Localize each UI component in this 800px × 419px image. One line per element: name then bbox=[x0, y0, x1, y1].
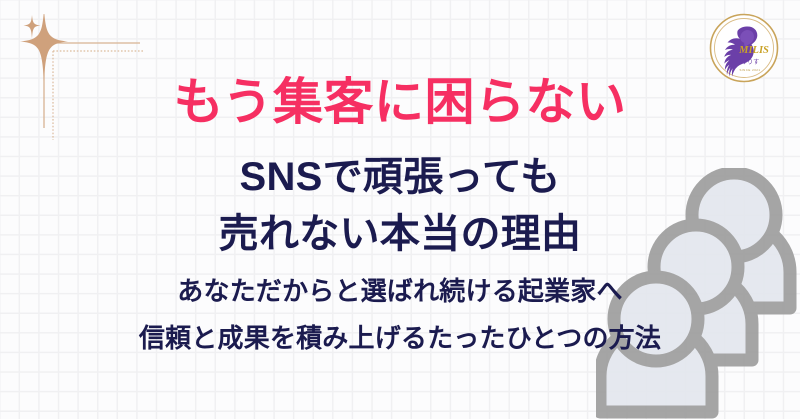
brand-logo-badge: MILIS みりす SINCE 2021 bbox=[702, 6, 786, 90]
logo-brand-name: MILIS bbox=[738, 45, 769, 56]
three-people-group-icon bbox=[596, 168, 800, 419]
logo-brand-tagline: SINCE 2021 bbox=[739, 68, 760, 72]
person-silhouette-front bbox=[600, 277, 712, 412]
logo-brand-kana: みりす bbox=[741, 59, 760, 66]
poster-canvas: MILIS みりす SINCE 2021 もう集客に困らない SNSで頑張っても… bbox=[0, 0, 800, 419]
